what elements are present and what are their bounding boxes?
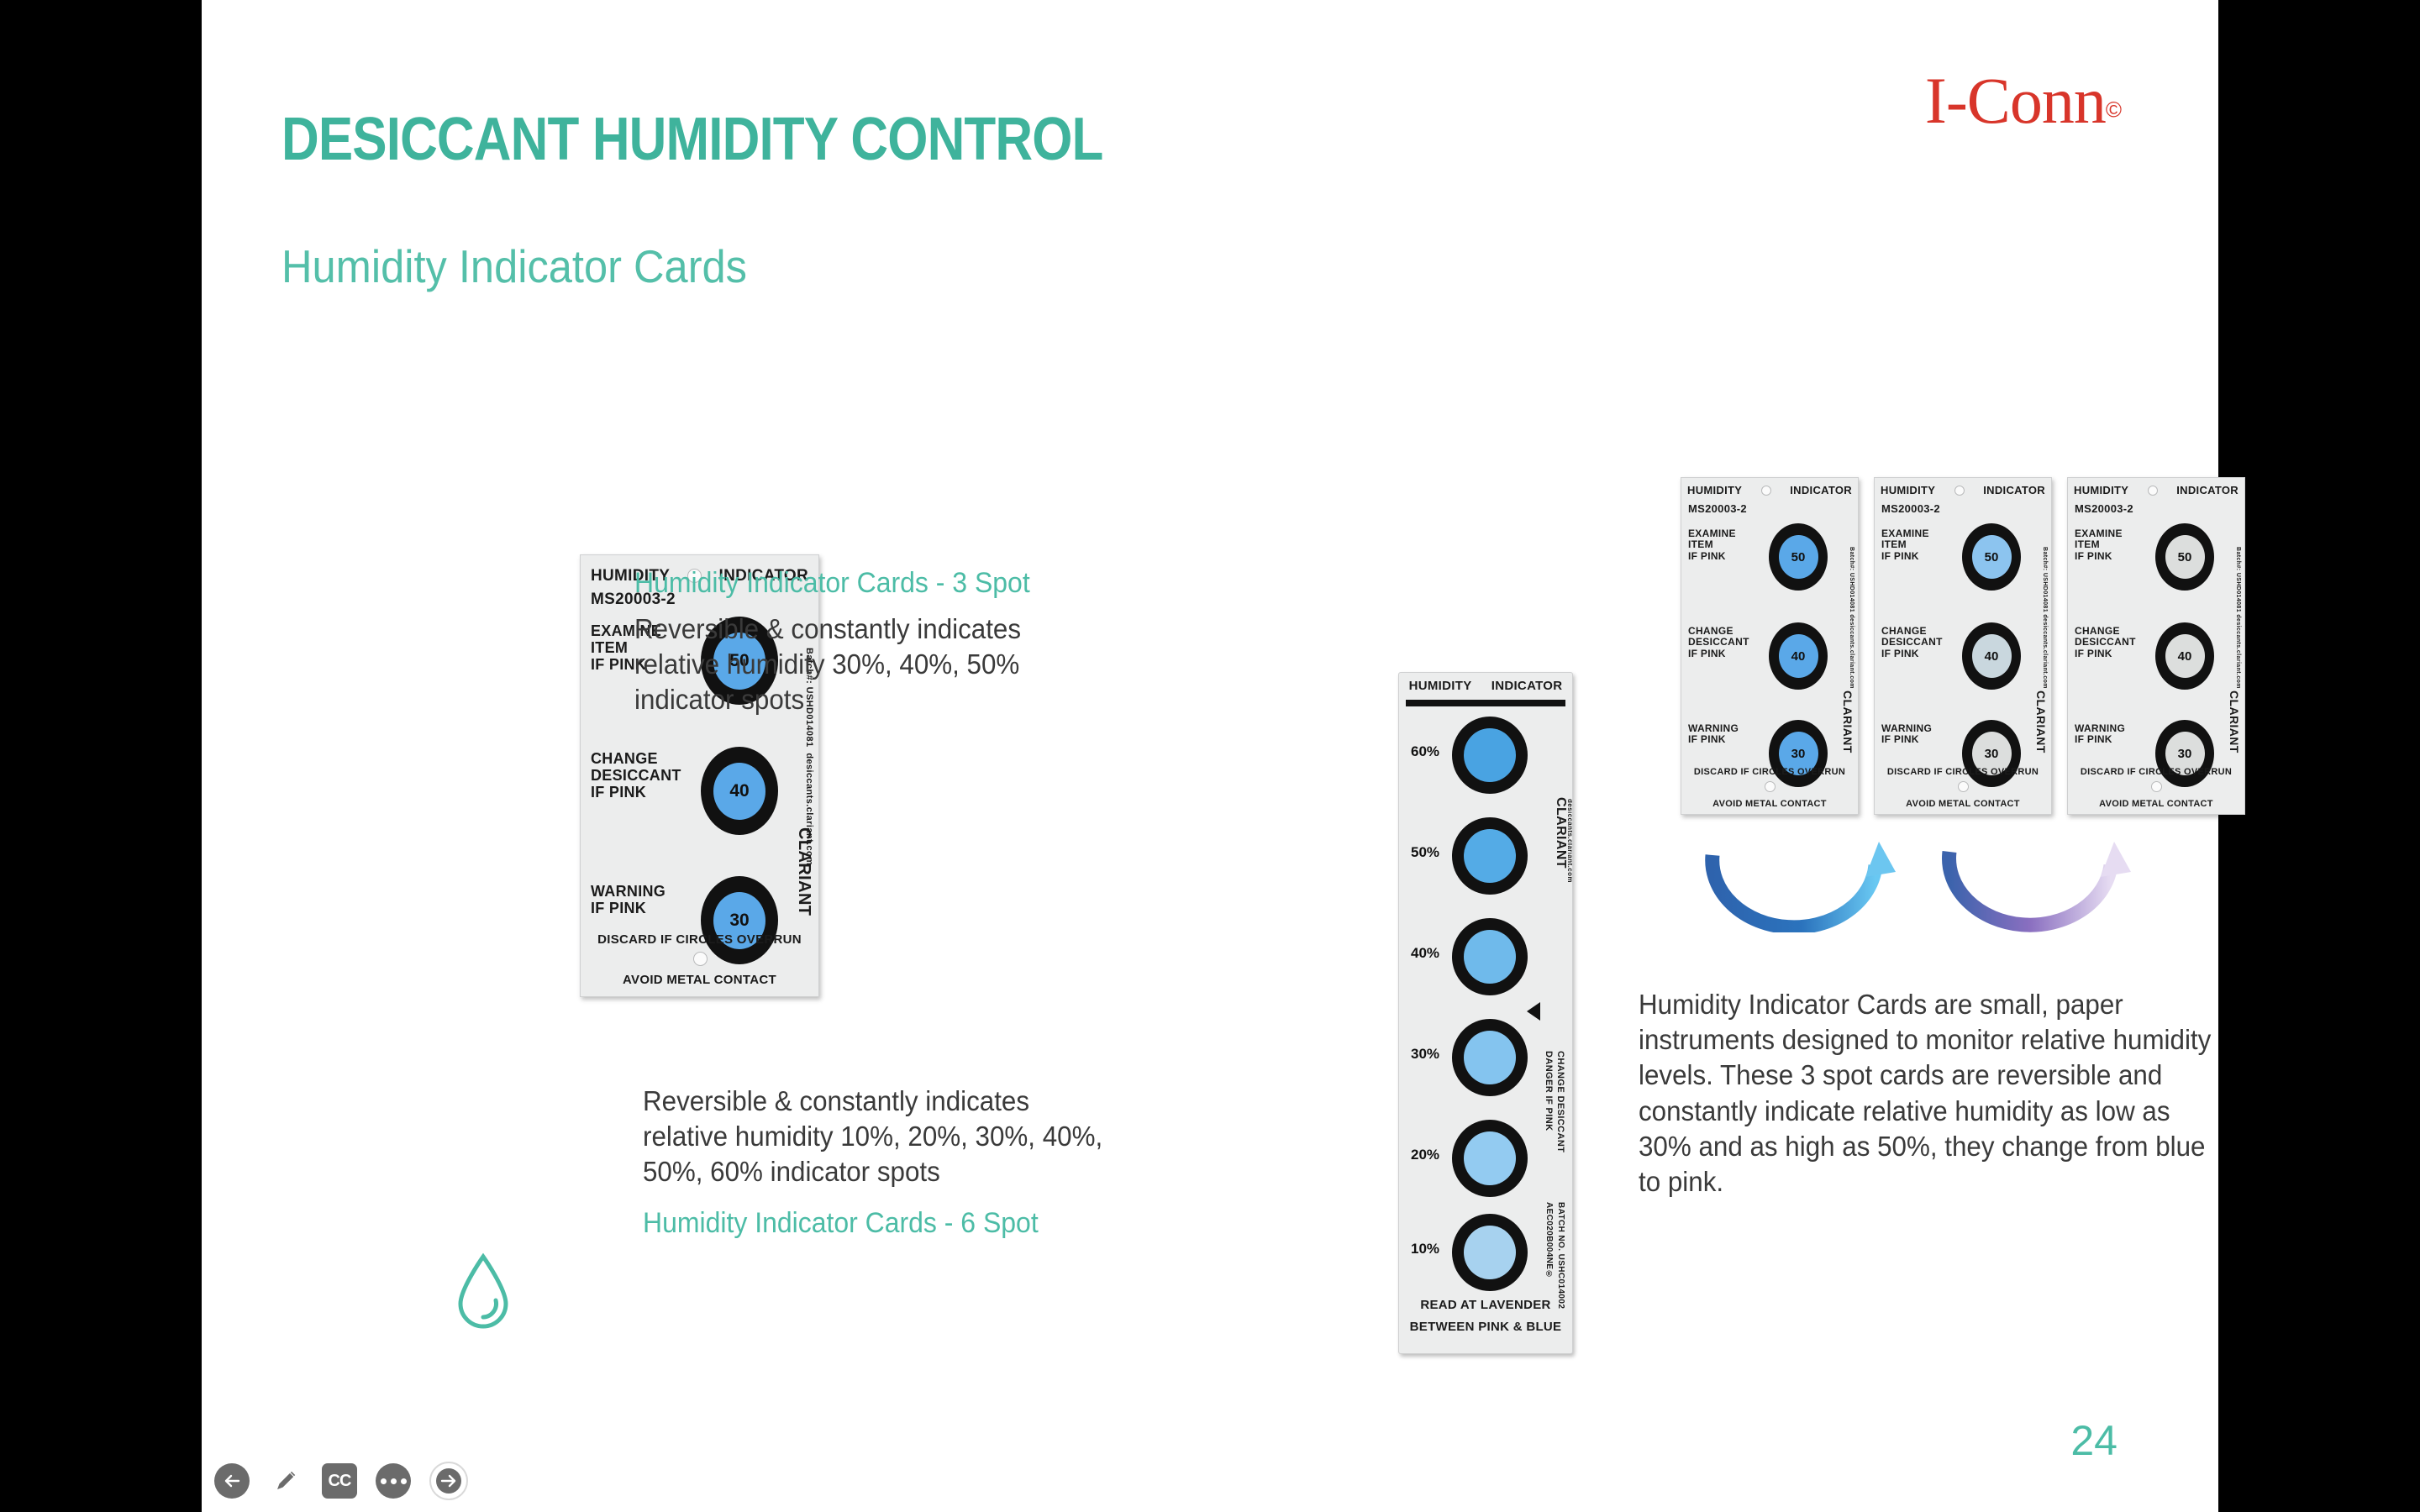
punch-hole-bottom-icon [1958,781,1969,792]
card6-pct-50: 50% [1411,844,1439,861]
six-spot-heading: Humidity Indicator Cards - 6 Spot [643,1207,1101,1240]
punch-hole-bottom-icon [1765,781,1776,792]
captions-button[interactable]: CC [322,1463,357,1499]
card6-header-left: HUMIDITY [1409,680,1472,694]
card6-pct-40: 40% [1411,945,1439,962]
card-header-right: INDICATOR [2176,485,2238,497]
card-row-label-3: WARNINGIF PINK [591,883,665,916]
indicator-spot-30b [1452,1019,1528,1096]
indicator-spot-50: 50 [1962,523,2021,591]
card-row-label-2: CHANGEDESICCANTIF PINK [1881,626,1943,659]
indicator-spot-50: 50 [1769,523,1828,591]
indicator-spot-10 [1452,1214,1528,1291]
card-part-number: MS20003-2 [2075,503,2133,516]
ellipsis-icon [381,1478,407,1484]
three-spot-heading: Humidity Indicator Cards - 3 Spot [634,567,1076,600]
logo-text: I-Conn [1925,64,2106,137]
three-spot-text-block: Humidity Indicator Cards - 3 Spot Revers… [634,567,1105,718]
card6-pct-60: 60% [1411,743,1439,760]
description-block: Humidity Indicator Cards are small, pape… [1639,987,2244,1200]
punch-hole-icon [1954,486,1965,496]
page-number: 24 [2070,1416,2117,1465]
card-row-label-3: WARNINGIF PINK [2075,723,2125,746]
card6-pct-10: 10% [1411,1241,1439,1257]
card6-row-60: 60% [1399,713,1572,797]
indicator-spot-30: 30 [1962,720,2021,787]
card-part-number: MS20003-2 [1688,503,1747,516]
next-slide-button[interactable] [429,1462,468,1500]
spot-fill-50 [1464,829,1516,883]
card-row-label-3: WARNINGIF PINK [1881,723,1932,746]
blue-arrow-head [1865,842,1896,877]
more-options-button[interactable] [376,1463,411,1499]
indicator-spot-50b [1452,817,1528,895]
card6-warn-2: CHANGE DESICCANT [1555,1051,1565,1152]
spot-fill-60 [1464,728,1516,782]
punch-hole-icon [1761,486,1771,496]
card-footer-metal: AVOID METAL CONTACT [581,974,818,988]
spot-value-40: 40 [713,763,765,820]
purple-arrow-head [2101,842,2131,877]
six-spot-text-block: Reversible & constantly indicates relati… [643,1084,1130,1240]
card6-header: HUMIDITY INDICATOR [1399,680,1572,694]
brand-logo: I-Conn© [1925,63,2122,139]
card-header-right: INDICATOR [1983,485,2045,497]
spot-fill-20 [1464,1131,1516,1185]
card6-row-50: 50% [1399,814,1572,898]
humidity-card-state-fully-changed: HUMIDITY INDICATOR MS20003-2 EXAMINEITEM… [2067,477,2245,815]
card6-read-2: BETWEEN PINK & BLUE [1399,1320,1572,1335]
card-footer-discard: DISCARD IF CIRCLES OVERRUN [581,933,818,948]
card-row-label-2: CHANGEDESICCANTIF PINK [2075,626,2136,659]
card6-pct-20: 20% [1411,1147,1439,1163]
card-header-left: HUMIDITY [2074,485,2128,497]
card-header-left: HUMIDITY [1881,485,1935,497]
card-brand: CLARIANT [2034,690,2048,753]
spot-value-40: 40 [1972,634,2012,678]
card-footer-metal: AVOID METAL CONTACT [1681,799,1858,809]
pencil-icon [276,1471,296,1490]
indicator-spot-30: 30 [2155,720,2214,787]
card-row-label-1: EXAMINEITEMIF PINK [1688,528,1736,562]
card-footer-metal: AVOID METAL CONTACT [2068,799,2244,809]
indicator-spot-40b [1452,918,1528,995]
indicator-spot-40: 40 [701,747,778,835]
arrow-left-icon [226,1476,239,1486]
blue-arrow-curve [1712,855,1875,927]
six-spot-body: Reversible & constantly indicates relati… [643,1084,1106,1190]
card-row-label-2: CHANGEDESICCANTIF PINK [1688,626,1749,659]
card-header: HUMIDITY INDICATOR [2068,478,2244,497]
page-title: DESICCANT HUMIDITY CONTROL [281,105,1103,174]
player-toolbar: CC [214,1462,468,1500]
danger-pointer-icon [1527,1002,1540,1021]
humidity-card-state-partly-changed: HUMIDITY INDICATOR MS20003-2 EXAMINEITEM… [1874,477,2052,815]
card-batch-info: Batch#: USHD014081 desiccants.clariant.c… [1849,547,1854,689]
indicator-spot-60 [1452,717,1528,794]
annotate-button[interactable] [268,1463,303,1499]
transition-arrows [1697,840,2235,932]
indicator-spot-30: 30 [701,876,778,964]
card-row-label-1: EXAMINEITEMIF PINK [1881,528,1929,562]
humidity-indicator-card-6spot: HUMIDITY INDICATOR 60% 50% 40% 30% 20% [1398,672,1573,1354]
punch-hole-icon [2148,486,2158,496]
card6-code-1: AEC020B004NE® [1544,1202,1554,1279]
card6-code-2: BATCH NO. USHC014002 [1556,1202,1565,1309]
card6-read-1: READ AT LAVENDER [1399,1299,1572,1313]
indicator-spot-30: 30 [1769,720,1828,787]
card-header: HUMIDITY INDICATOR [1681,478,1858,497]
page-subtitle: Humidity Indicator Cards [281,239,747,293]
card6-header-right: INDICATOR [1491,680,1563,694]
water-drop-icon [454,1252,513,1336]
card6-brand-url: desiccants.clariant.com [1566,799,1573,883]
card-brand: CLARIANT [1841,690,1854,753]
description-body: Humidity Indicator Cards are small, pape… [1639,987,2213,1200]
spot-value-50: 50 [1972,535,2012,579]
spot-value-50: 50 [2165,535,2205,579]
card-row-label-3: WARNINGIF PINK [1688,723,1739,746]
spot-fill-30 [1464,1031,1516,1084]
indicator-spot-40: 40 [2155,622,2214,690]
copyright-icon: © [2106,97,2122,123]
indicator-spot-20 [1452,1120,1528,1197]
slide-viewer: DESICCANT HUMIDITY CONTROL Humidity Indi… [0,0,2420,1512]
purple-arrow-curve [1949,852,2111,925]
indicator-spot-40: 40 [1769,622,1828,690]
punch-hole-bottom-icon [693,952,708,966]
spot-fill-10 [1464,1226,1516,1279]
card-footer-discard: DISCARD IF CIRCLES OVERRUN [2068,767,2244,777]
card-footer-discard: DISCARD IF CIRCLES OVERRUN [1875,767,2051,777]
card-batch-info: Batch#: USHD014081 desiccants.clariant.c… [2235,547,2241,689]
card6-pct-30: 30% [1411,1046,1439,1063]
card-footer-discard: DISCARD IF CIRCLES OVERRUN [1681,767,1858,777]
card-row-label-1: EXAMINEITEMIF PINK [2075,528,2123,562]
spot-value-40: 40 [1779,634,1818,678]
slide-canvas: DESICCANT HUMIDITY CONTROL Humidity Indi… [202,0,2218,1512]
three-spot-body: Reversible & constantly indicates relati… [634,612,1081,718]
card6-divider [1406,700,1565,706]
card-header: HUMIDITY INDICATOR [1875,478,2051,497]
card-batch-info: Batch#: USHD014081 desiccants.clariant.c… [2042,547,2048,689]
card-row-label-2: CHANGEDESICCANTIF PINK [591,750,681,801]
card-brand: CLARIANT [2228,690,2241,753]
spot-value-40: 40 [2165,634,2205,678]
punch-hole-bottom-icon [2151,781,2162,792]
card-footer-metal: AVOID METAL CONTACT [1875,799,2051,809]
card-header-right: INDICATOR [1790,485,1852,497]
indicator-spot-50: 50 [2155,523,2214,591]
previous-slide-button[interactable] [214,1463,250,1499]
card6-row-40: 40% [1399,915,1572,999]
spot-value-50: 50 [1779,535,1818,579]
card6-warn-1: DANGER IF PINK [1544,1051,1554,1131]
humidity-card-state-fully-blue: HUMIDITY INDICATOR MS20003-2 EXAMINEITEM… [1681,477,1859,815]
card-part-number: MS20003-2 [1881,503,1940,516]
card-header-left: HUMIDITY [1687,485,1742,497]
indicator-spot-40: 40 [1962,622,2021,690]
spot-fill-40 [1464,930,1516,984]
